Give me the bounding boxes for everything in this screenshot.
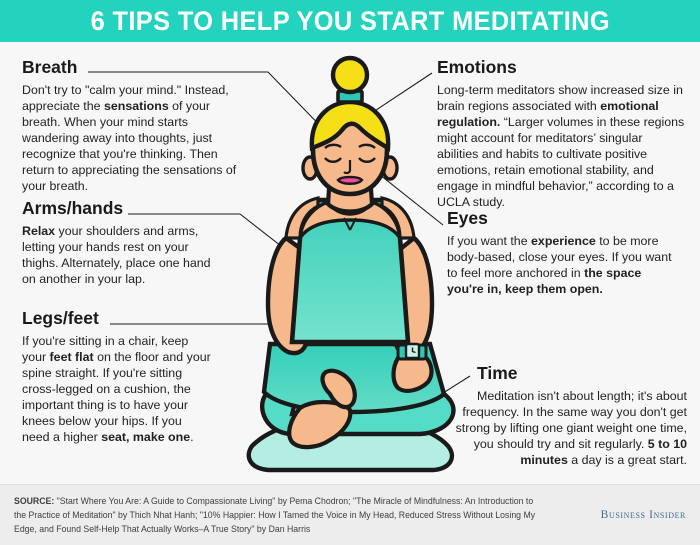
tip-breath-body: Don't try to "calm your mind." Instead, … <box>22 82 247 194</box>
tip-breath: Breath Don't try to "calm your mind." In… <box>22 58 247 194</box>
source-body: "Start Where You Are: A Guide to Compass… <box>14 496 535 534</box>
tip-time-body: Meditation isn't about length; it's abou… <box>455 388 687 468</box>
tip-breath-title: Breath <box>22 58 247 77</box>
lips <box>338 177 362 184</box>
tip-emotions-body: Long-term meditators show increased size… <box>437 82 685 210</box>
footer: SOURCE: "Start Where You Are: A Guide to… <box>0 484 700 545</box>
tip-time: Time Meditation isn't about length; it's… <box>455 364 687 468</box>
tip-legs: Legs/feet If you're sitting in a chair, … <box>22 309 212 445</box>
tip-legs-title: Legs/feet <box>22 309 212 328</box>
business-insider-logo: Business Insider <box>601 509 686 521</box>
tip-arms: Arms/hands Relax your shoulders and arms… <box>22 199 212 287</box>
tip-arms-title: Arms/hands <box>22 199 212 218</box>
tip-emotions-title: Emotions <box>437 58 685 77</box>
tip-time-title: Time <box>477 364 687 383</box>
figure-group <box>249 58 454 470</box>
tip-eyes-title: Eyes <box>447 209 679 228</box>
tip-eyes-body: If you want the experience to be more bo… <box>447 233 679 297</box>
hair-bun <box>333 58 367 92</box>
source-credit: SOURCE: "Start Where You Are: A Guide to… <box>14 495 546 537</box>
wristwatch <box>398 344 426 359</box>
tip-emotions: Emotions Long-term meditators show incre… <box>437 58 685 210</box>
tip-arms-body: Relax your shoulders and arms, letting y… <box>22 223 212 287</box>
tip-eyes: Eyes If you want the experience to be mo… <box>447 209 679 297</box>
tip-legs-body: If you're sitting in a chair, keep your … <box>22 333 212 445</box>
right-hand <box>394 356 432 391</box>
infographic-page: 6 TIPS TO HELP YOU START MEDITATING <box>0 0 700 545</box>
page-title: 6 TIPS TO HELP YOU START MEDITATING <box>90 6 609 37</box>
header-bar: 6 TIPS TO HELP YOU START MEDITATING <box>0 0 700 42</box>
infographic-canvas: Breath Don't try to "calm your mind." In… <box>0 42 700 484</box>
source-label: SOURCE: <box>14 496 54 506</box>
